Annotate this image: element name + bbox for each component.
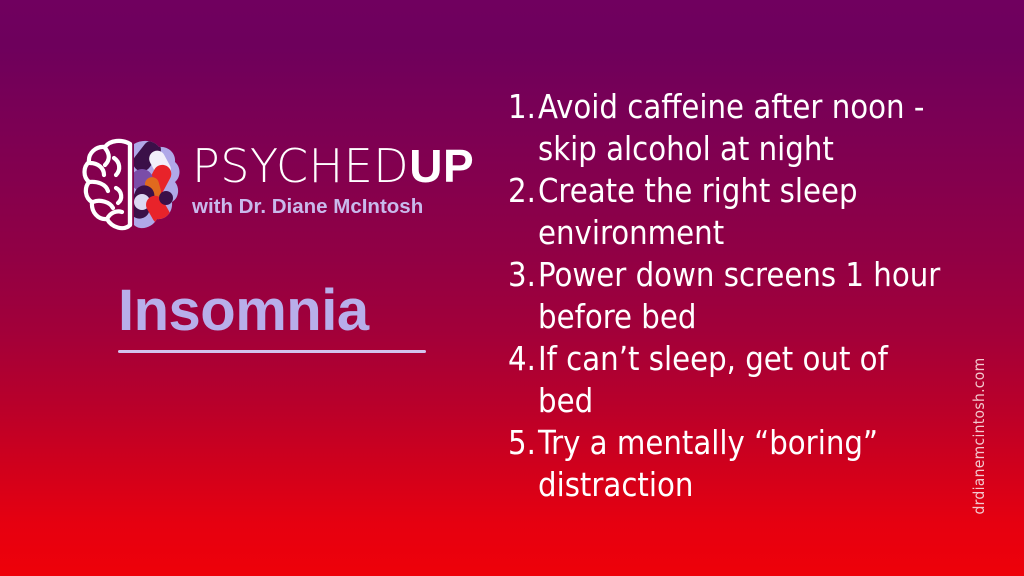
website-watermark: drdianemcintosh.com	[964, 350, 994, 522]
brand-lockup: PSYCHEDUP with Dr. Diane McIntosh	[80, 136, 452, 242]
list-item: 4. If can’t sleep, get out of bed	[508, 338, 948, 422]
list-item-number: 1.	[508, 86, 538, 128]
wordmark-psyched: PSYCHED	[192, 139, 409, 193]
wordmark: PSYCHEDUP with Dr. Diane McIntosh	[192, 140, 452, 240]
brand-tagline: with Dr. Diane McIntosh	[192, 195, 452, 219]
list-item-text: Power down screens 1 hour before bed	[538, 254, 948, 338]
list-item-number: 3.	[508, 254, 538, 296]
list-item-text: Avoid caffeine after noon - skip alcohol…	[538, 86, 948, 170]
wordmark-main: PSYCHEDUP	[192, 140, 452, 192]
wordmark-up: UP	[409, 140, 474, 192]
list-item: 3. Power down screens 1 hour before bed	[508, 254, 948, 338]
page-title: Insomnia	[118, 278, 369, 344]
watermark-text: drdianemcintosh.com	[970, 358, 988, 515]
split-brain-pills-icon	[80, 136, 184, 242]
list-item-number: 2.	[508, 170, 538, 212]
list-item-number: 5.	[508, 422, 538, 464]
list-item-text: If can’t sleep, get out of bed	[538, 338, 948, 422]
left-panel: PSYCHEDUP with Dr. Diane McIntosh Insomn…	[0, 0, 480, 576]
slide-canvas: PSYCHEDUP with Dr. Diane McIntosh Insomn…	[0, 0, 1024, 576]
list-item: 2. Create the right sleep environment	[508, 170, 948, 254]
title-underline-rule	[118, 350, 426, 353]
list-item: 5. Try a mentally “boring” distraction	[508, 422, 948, 506]
list-item-text: Try a mentally “boring” distraction	[538, 422, 948, 506]
tips-list: 1. Avoid caffeine after noon - skip alco…	[508, 86, 948, 506]
list-item-text: Create the right sleep environment	[538, 170, 948, 254]
list-item-number: 4.	[508, 338, 538, 380]
list-item: 1. Avoid caffeine after noon - skip alco…	[508, 86, 948, 170]
